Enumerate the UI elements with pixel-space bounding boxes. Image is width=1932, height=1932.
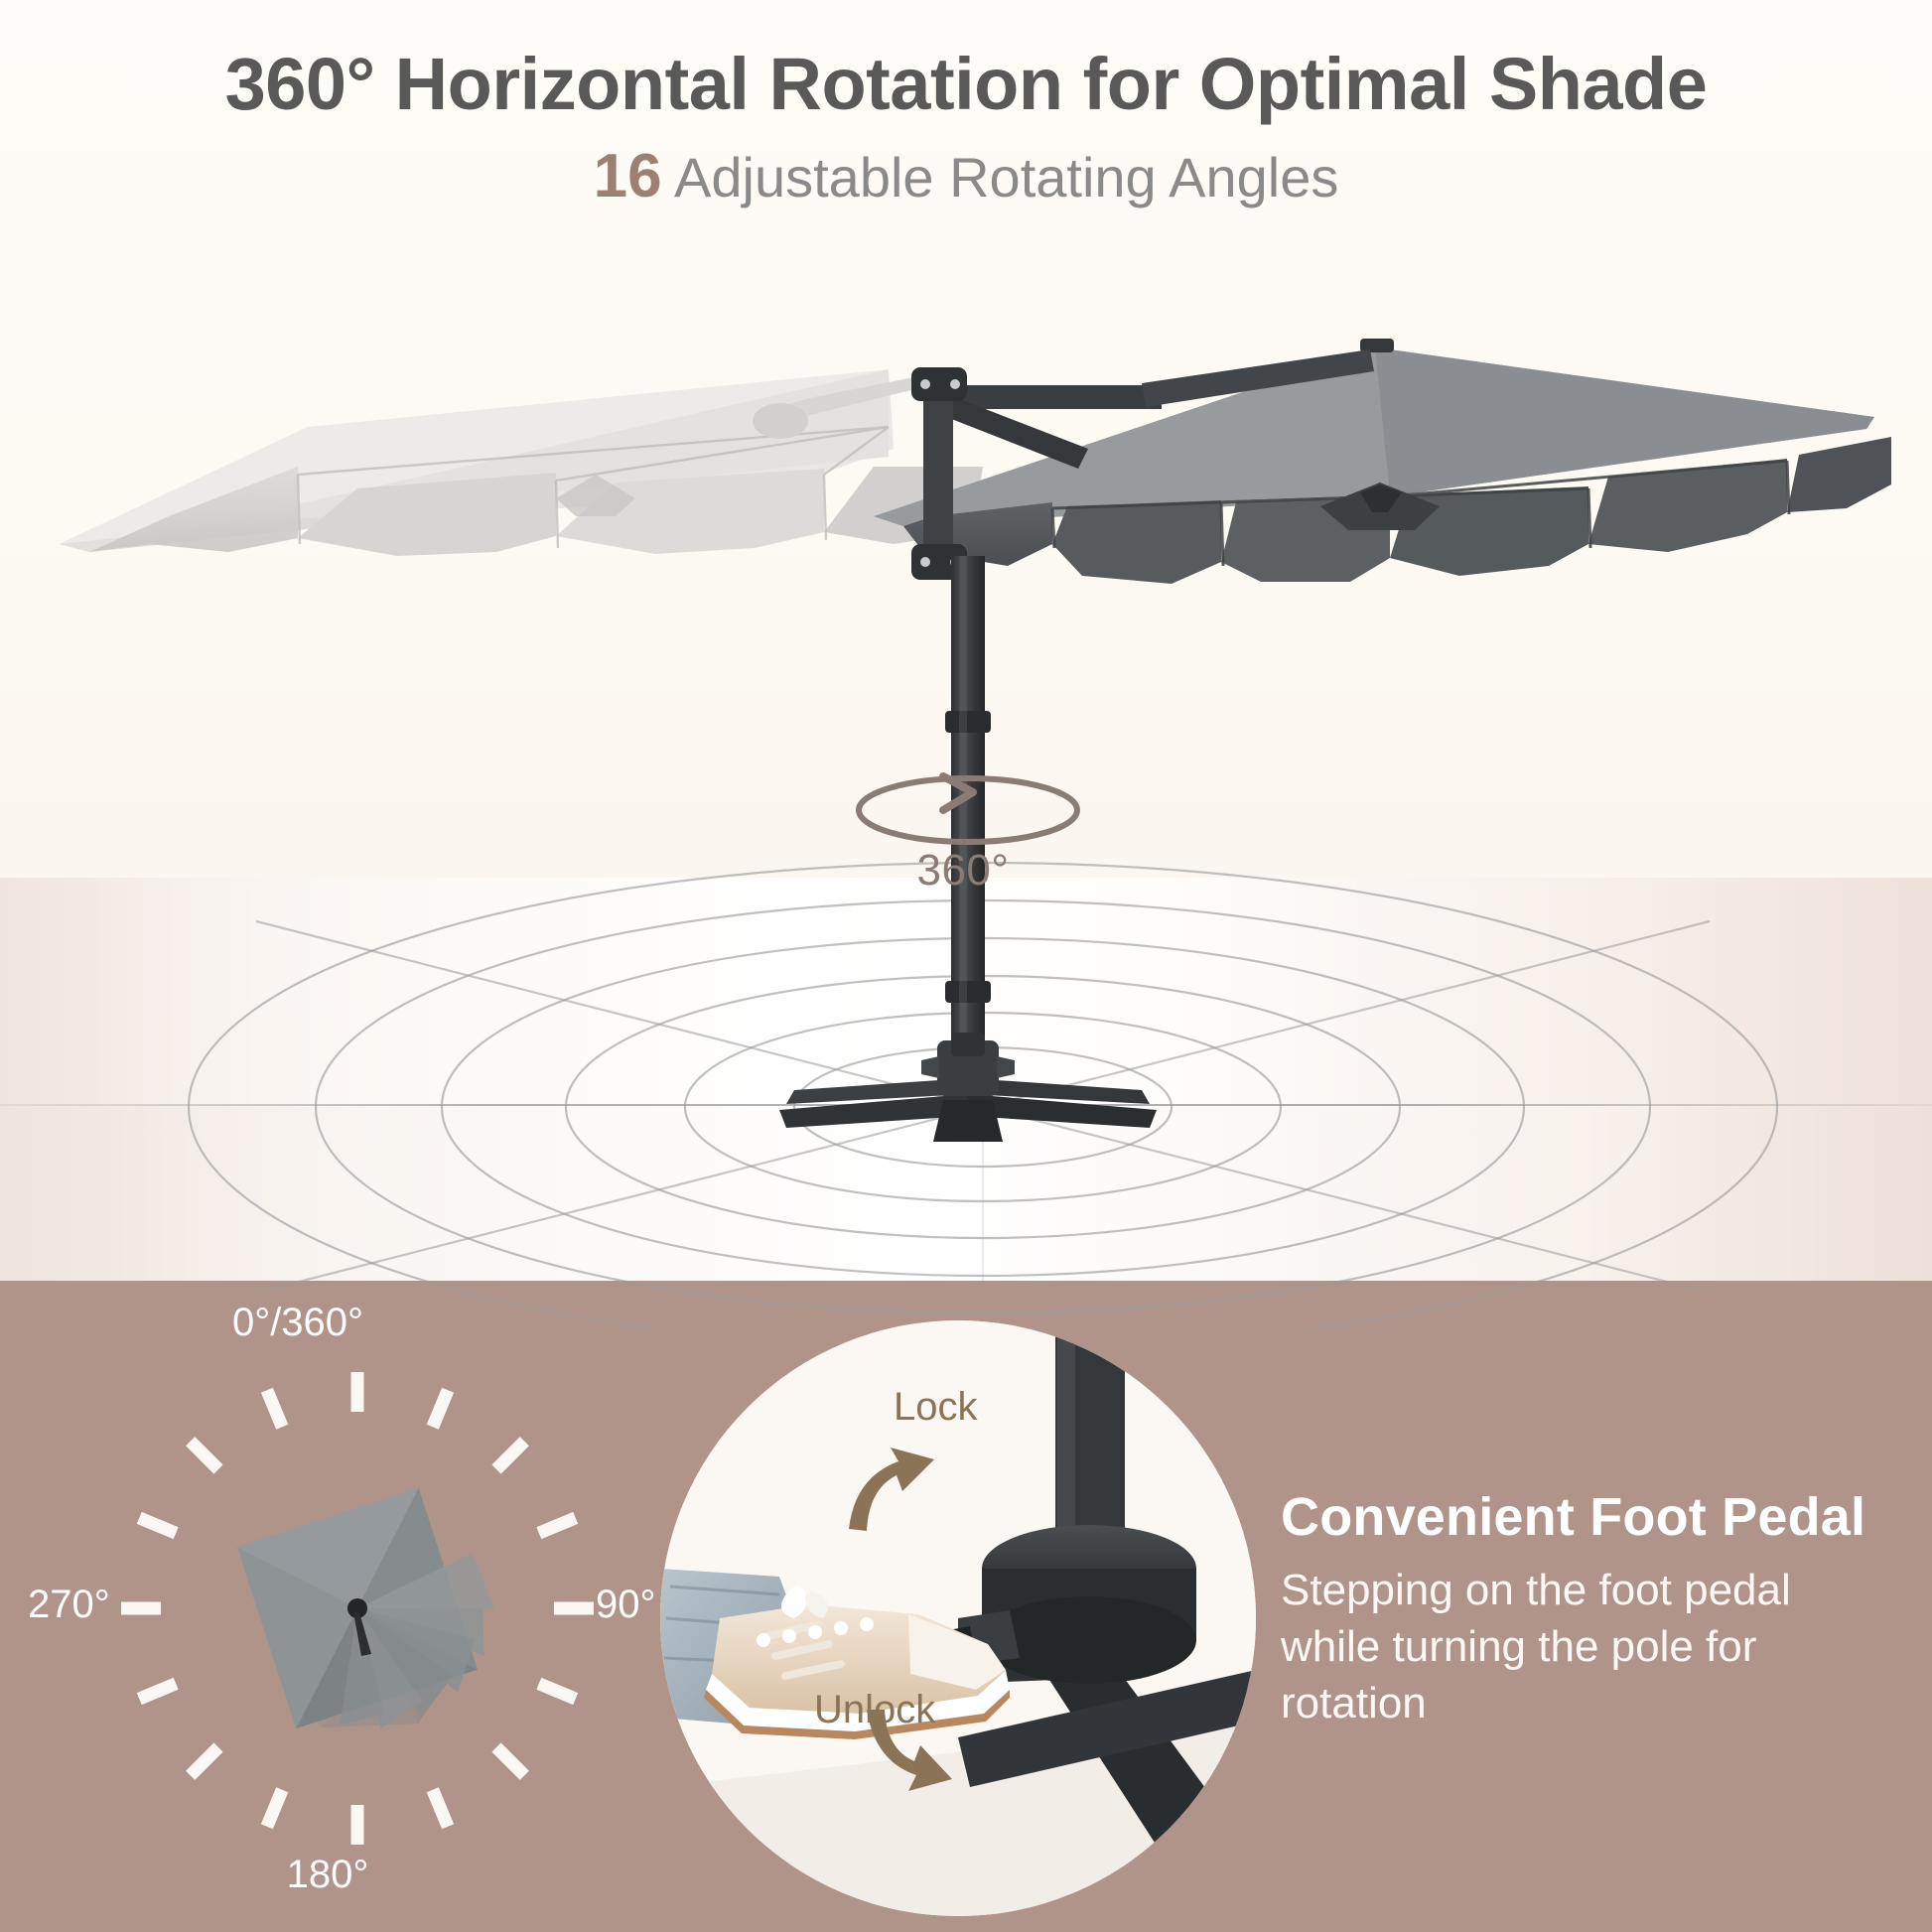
- dial-label-top: 0°/360°: [232, 1301, 363, 1345]
- rotation-badge-label: 360°: [874, 846, 1052, 896]
- main-pole: [945, 556, 991, 1112]
- pedal-unlock-label: Unlock: [814, 1688, 935, 1732]
- dial-label-bottom: 180°: [287, 1853, 369, 1897]
- cross-base: [779, 1033, 1157, 1142]
- dial-label-left: 270°: [28, 1583, 110, 1627]
- infographic-root: 360° Horizontal Rotation for Optimal Sha…: [0, 0, 1932, 1932]
- feature-text-panel: Convenient Foot Pedal Stepping on the fo…: [1281, 1489, 1896, 1731]
- rotation-dial: [40, 1291, 675, 1926]
- pedal-lock-label: Lock: [894, 1385, 978, 1430]
- panel-body: Stepping on the foot pedal while turning…: [1281, 1562, 1896, 1732]
- umbrella-ghost-light: [60, 369, 983, 556]
- umbrella-dark: [874, 339, 1891, 584]
- dial-label-right: 90°: [596, 1583, 656, 1627]
- umbrella-scene: [0, 0, 1932, 1330]
- dial-umbrella-graphic: [237, 1488, 494, 1728]
- panel-heading: Convenient Foot Pedal: [1281, 1489, 1896, 1546]
